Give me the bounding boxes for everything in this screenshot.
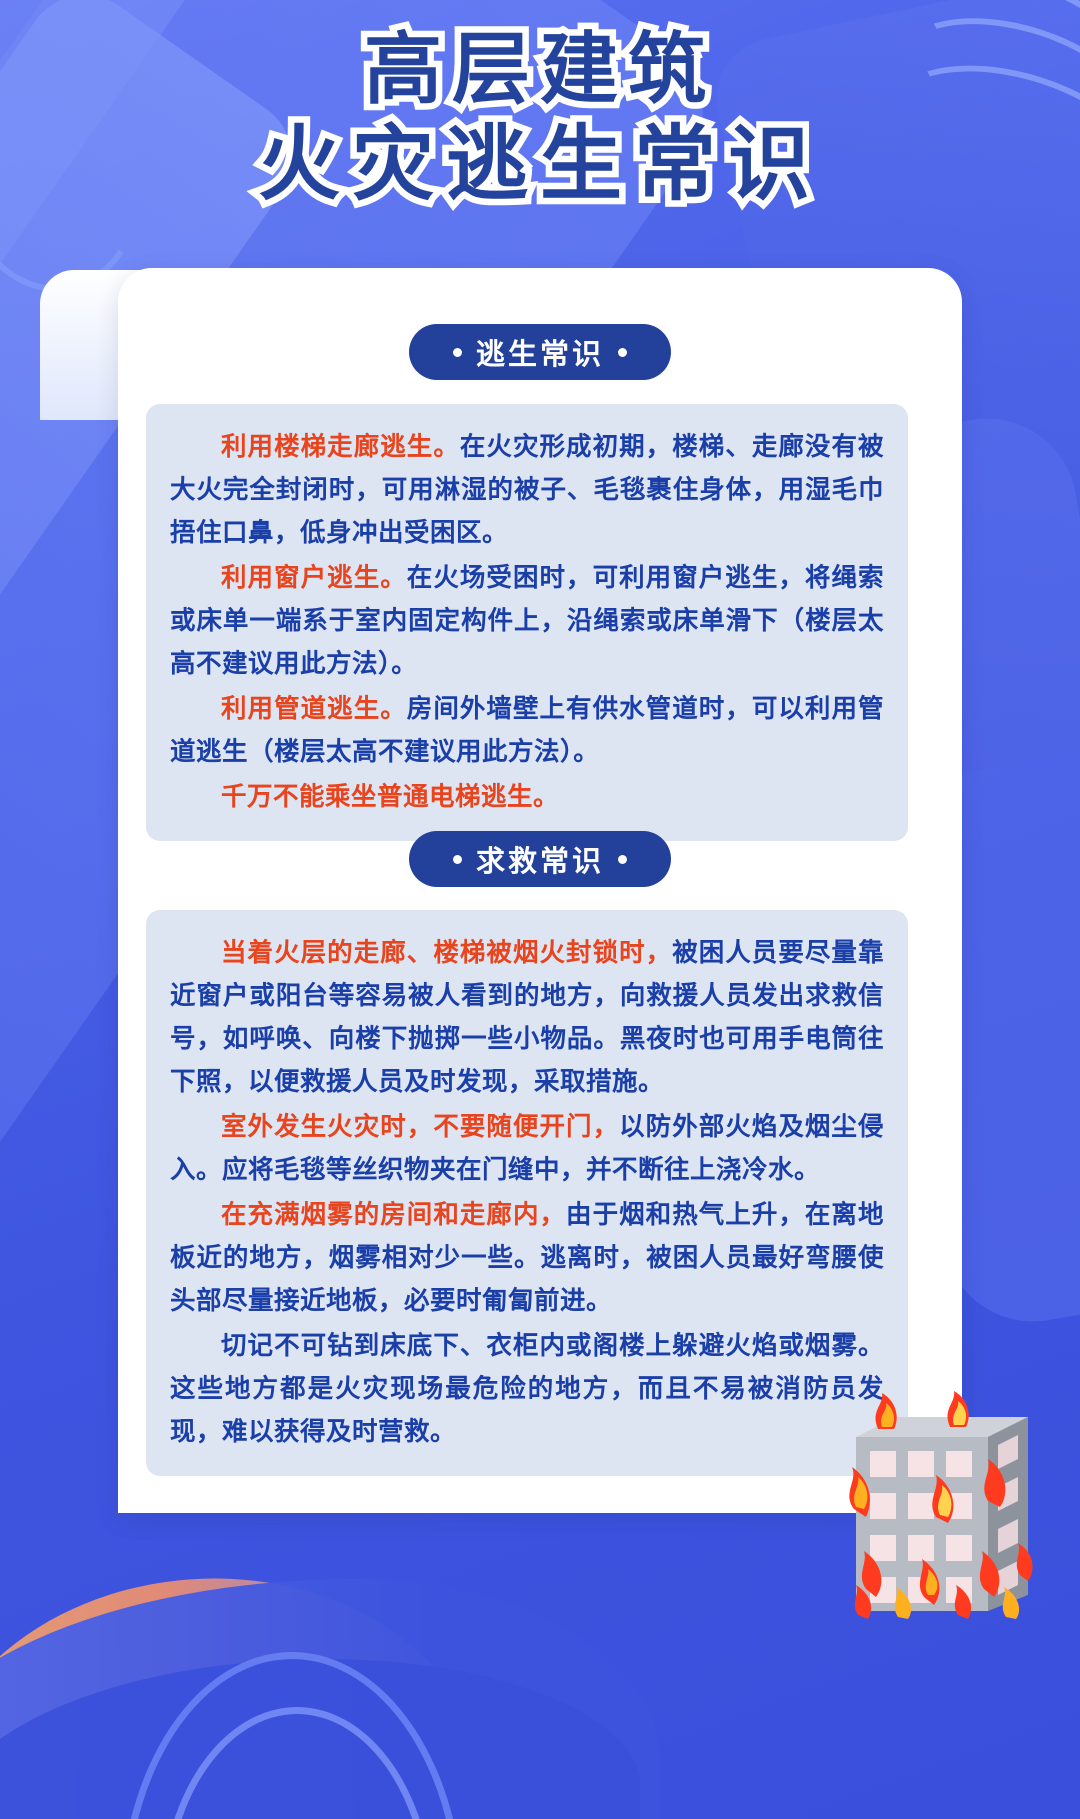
badge-rescue-label: 求救常识 [476, 838, 604, 880]
badge-rescue: 求救常识 [409, 831, 671, 887]
paragraph-elevator-warning: 千万不能乘坐普通电梯逃生。 [170, 776, 884, 819]
paragraph-stairs: 利用楼梯走廊逃生。在火灾形成初期，楼梯、走廊没有被大火完全封闭时，可用淋湿的被子… [170, 426, 884, 555]
paragraph-window-highlight: 利用窗户逃生。 [221, 564, 407, 592]
title-line-1: 高层建筑 [0, 26, 1080, 113]
badge-dot-right-icon [618, 855, 627, 864]
badge-escape: 逃生常识 [409, 324, 671, 380]
panel-rescue-knowledge: 当着火层的走廊、楼梯被烟火封锁时，被困人员要尽量靠近窗户或阳台等容易被人看到的地… [146, 910, 908, 1476]
poster-title: 高层建筑 火灾逃生常识 [0, 26, 1080, 211]
poster-root: 高层建筑 火灾逃生常识 逃生常识 利用楼梯走廊逃生。在火灾形成初期，楼梯、走廊没… [0, 0, 1080, 1819]
paragraph-signal-highlight: 当着火层的走廊、楼梯被烟火封锁时， [221, 939, 672, 967]
paragraph-hiding-body: 切记不可钻到床底下、衣柜内或阁楼上躲避火焰或烟雾。这些地方都是火灾现场最危险的地… [170, 1332, 884, 1446]
paragraph-hiding: 切记不可钻到床底下、衣柜内或阁楼上躲避火焰或烟雾。这些地方都是火灾现场最危险的地… [170, 1325, 884, 1454]
paragraph-window: 利用窗户逃生。在火场受困时，可利用窗户逃生，将绳索或床单一端系于室内固定构件上，… [170, 557, 884, 686]
badge-dot-left-icon [453, 855, 462, 864]
section-badge-rescue: 求救常识 [118, 831, 962, 887]
burning-building-icon [838, 1389, 1058, 1619]
paragraph-door: 室外发生火灾时，不要随便开门，以防外部火焰及烟尘侵入。应将毛毯等丝织物夹在门缝中… [170, 1106, 884, 1192]
paragraph-signal: 当着火层的走廊、楼梯被烟火封锁时，被困人员要尽量靠近窗户或阳台等容易被人看到的地… [170, 932, 884, 1104]
badge-escape-label: 逃生常识 [476, 331, 604, 373]
badge-dot-right-icon [618, 348, 627, 357]
paragraph-smoke-highlight: 在充满烟雾的房间和走廊内， [221, 1201, 566, 1229]
title-line-2: 火灾逃生常识 [0, 119, 1080, 211]
content-card: 逃生常识 利用楼梯走廊逃生。在火灾形成初期，楼梯、走廊没有被大火完全封闭时，可用… [118, 268, 962, 1513]
paragraph-pipe: 利用管道逃生。房间外墙壁上有供水管道时，可以利用管道逃生（楼层太高不建议用此方法… [170, 688, 884, 774]
paragraph-pipe-highlight: 利用管道逃生。 [221, 695, 407, 723]
paragraph-elevator-highlight: 千万不能乘坐普通电梯逃生。 [221, 783, 559, 811]
paragraph-smoke: 在充满烟雾的房间和走廊内，由于烟和热气上升，在离地板近的地方，烟雾相对少一些。逃… [170, 1194, 884, 1323]
panel-escape-knowledge: 利用楼梯走廊逃生。在火灾形成初期，楼梯、走廊没有被大火完全封闭时，可用淋湿的被子… [146, 404, 908, 841]
paragraph-door-highlight: 室外发生火灾时，不要随便开门， [221, 1113, 619, 1141]
paragraph-stairs-highlight: 利用楼梯走廊逃生。 [221, 433, 460, 461]
badge-dot-left-icon [453, 348, 462, 357]
section-badge-escape: 逃生常识 [118, 324, 962, 380]
